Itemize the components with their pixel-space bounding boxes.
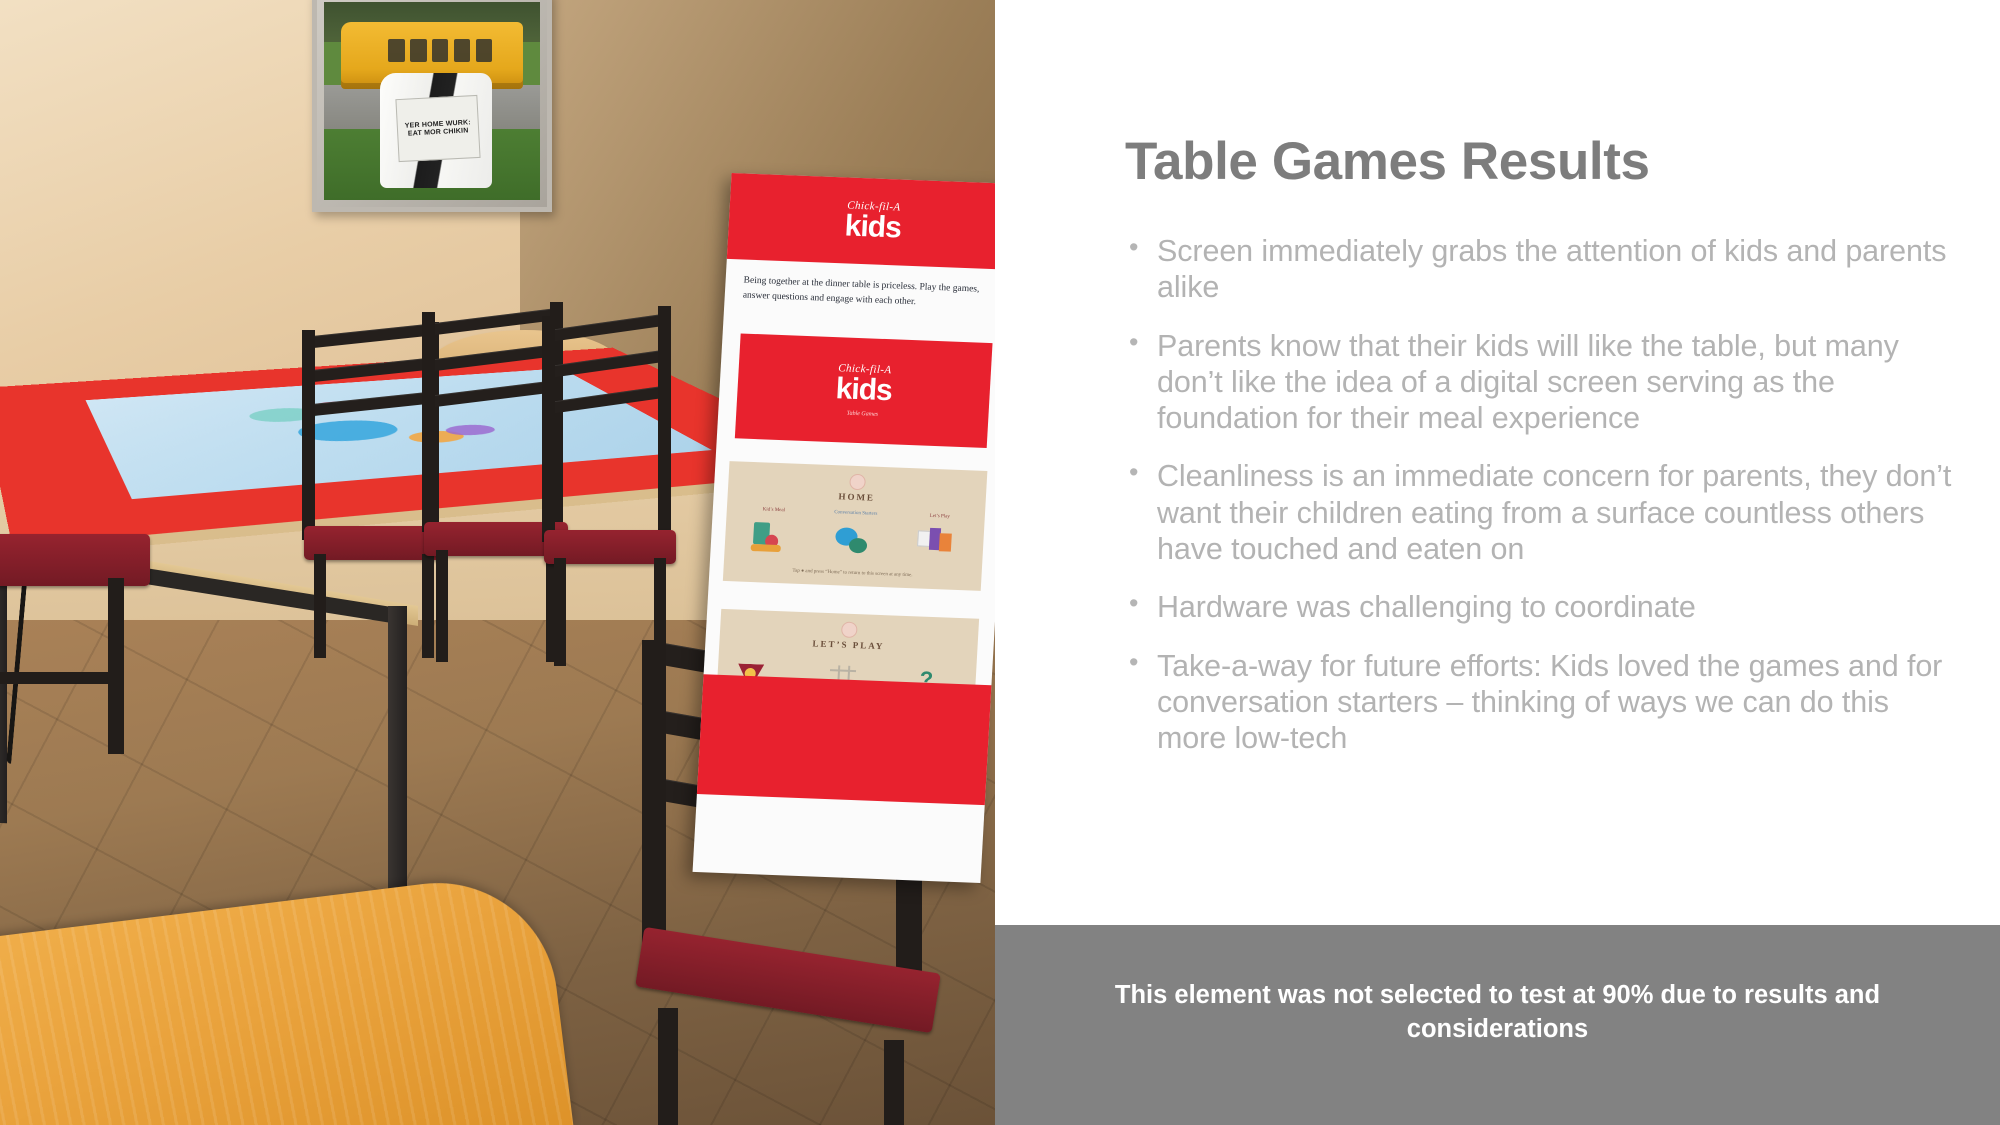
cow-poster-image: YER HOME WURK: EAT MOR CHIKIN xyxy=(324,2,540,200)
list-item: • Take-a-way for future efforts: Kids lo… xyxy=(1123,648,1953,757)
panel-icon-caption: Let’s Play xyxy=(913,513,967,520)
footer-callout-banner: This element was not selected to test at… xyxy=(995,925,2000,1125)
bullet-marker-icon: • xyxy=(1123,328,1157,437)
cow-sign-text: YER HOME WURK: EAT MOR CHIKIN xyxy=(396,95,481,163)
bullet-marker-icon: • xyxy=(1123,648,1157,757)
panel-icon-kids-meal: Kid’s Meal xyxy=(750,518,794,560)
bullet-marker-icon: • xyxy=(1123,589,1157,625)
bullet-marker-icon: • xyxy=(1123,458,1157,567)
banner-brand-block: Chick-fil-A kids Table Games xyxy=(735,333,993,448)
page-title: Table Games Results xyxy=(1125,131,1650,192)
panel-icon-lets-play: Let’s Play xyxy=(916,524,960,566)
panel-icon-caption: Conversation Starters xyxy=(829,510,883,517)
list-item: • Cleanliness is an immediate concern fo… xyxy=(1123,458,1953,567)
bullet-marker-icon: • xyxy=(1123,233,1157,306)
dining-room-photo: YER HOME WURK: EAT MOR CHIKIN xyxy=(0,0,995,1125)
chair xyxy=(540,316,680,666)
chair xyxy=(0,500,150,820)
slide-content-pane: Table Games Results • Screen immediately… xyxy=(995,0,2000,925)
bullet-list: • Screen immediately grabs the attention… xyxy=(1123,233,1953,778)
standing-banner-sign: Chick-fil-A kids Being together at the d… xyxy=(693,173,995,883)
list-item: • Hardware was challenging to coordinate xyxy=(1123,589,1953,625)
banner-body-copy: Being together at the dinner table is pr… xyxy=(742,274,993,313)
cfa-kids-wordmark: kids xyxy=(844,211,902,243)
list-item-text: Take-a-way for future efforts: Kids love… xyxy=(1157,648,1953,757)
panel-title-home: HOME xyxy=(728,487,986,507)
cow-poster-frame: YER HOME WURK: EAT MOR CHIKIN xyxy=(312,0,552,212)
cfa-kids-wordmark-2: kids xyxy=(835,374,893,406)
banner-header-red: Chick-fil-A kids xyxy=(727,173,995,270)
list-item: • Screen immediately grabs the attention… xyxy=(1123,233,1953,306)
panel-icon-caption: Kid’s Meal xyxy=(747,507,801,514)
panel-icon-conversation-starters: Conversation Starters xyxy=(832,521,876,563)
list-item-text: Screen immediately grabs the attention o… xyxy=(1157,233,1953,306)
list-item-text: Parents know that their kids will like t… xyxy=(1157,328,1953,437)
list-item-text: Hardware was challenging to coordinate xyxy=(1157,589,1953,625)
banner-panel-home: HOME Kid’s Meal Conversation Starters Le… xyxy=(723,461,988,591)
slide-root: YER HOME WURK: EAT MOR CHIKIN xyxy=(0,0,2000,1125)
cfa-logo-dot-icon xyxy=(841,622,858,639)
list-item-text: Cleanliness is an immediate concern for … xyxy=(1157,458,1953,567)
panel-footnote: Tap ● and press “Home” to return to this… xyxy=(723,566,981,581)
list-item: • Parents know that their kids will like… xyxy=(1123,328,1953,437)
footer-callout-text: This element was not selected to test at… xyxy=(1048,979,1948,1046)
cfa-logo-dot-icon xyxy=(849,474,866,491)
banner-brand-subtitle: Table Games xyxy=(847,411,879,418)
banner-footer-red xyxy=(697,674,992,805)
